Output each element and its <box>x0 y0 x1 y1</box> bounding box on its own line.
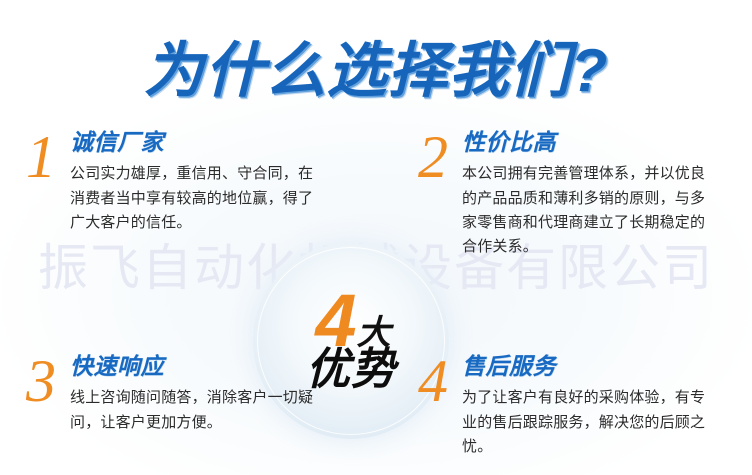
feature-text-4: 为了让客户有良好的采购体验，有专 业的售后跟踪服务，解决您的后顾之 忧。 <box>462 386 738 459</box>
feature-text-line: 忧。 <box>462 435 738 459</box>
feature-text-3: 线上咨询随问随答，消除客户一切疑 问，让客户更加方便。 <box>70 386 346 435</box>
feature-text-line: 家零售商和代理商建立了长期稳定的 <box>462 211 738 235</box>
feature-number-1: 1 <box>26 130 70 185</box>
feature-block-2: 2 性价比高 本公司拥有完善管理体系，并以优良 的产品品质和薄利多销的原则，与多… <box>418 128 738 259</box>
feature-text-line: 公司实力雄厚，重信用、守合同，在 <box>70 162 346 186</box>
feature-text-2: 本公司拥有完善管理体系，并以优良 的产品品质和薄利多销的原则，与多 家零售商和代… <box>462 162 738 259</box>
feature-text-1: 公司实力雄厚，重信用、守合同，在 消费者当中享有较高的地位赢，得了 广大客户的信… <box>70 162 346 235</box>
feature-text-line: 的产品品质和薄利多销的原则，与多 <box>462 187 738 211</box>
feature-body-3: 快速响应 线上咨询随问随答，消除客户一切疑 问，让客户更加方便。 <box>70 352 346 435</box>
feature-text-line: 线上咨询随问随答，消除客户一切疑 <box>70 386 346 410</box>
feature-number-2: 2 <box>418 130 462 185</box>
feature-text-line: 本公司拥有完善管理体系，并以优良 <box>462 162 738 186</box>
feature-body-1: 诚信厂家 公司实力雄厚，重信用、守合同，在 消费者当中享有较高的地位赢，得了 广… <box>70 128 346 235</box>
feature-text-line: 为了让客户有良好的采购体验，有专 <box>462 386 738 410</box>
feature-text-line: 问，让客户更加方便。 <box>70 411 346 435</box>
feature-block-4: 4 售后服务 为了让客户有良好的采购体验，有专 业的售后跟踪服务，解决您的后顾之… <box>418 352 738 459</box>
feature-number-3: 3 <box>26 354 70 409</box>
feature-number-4: 4 <box>418 354 462 409</box>
feature-heading-2: 性价比高 <box>462 130 738 155</box>
feature-heading-1: 诚信厂家 <box>70 130 346 155</box>
feature-block-3: 3 快速响应 线上咨询随问随答，消除客户一切疑 问，让客户更加方便。 <box>26 352 346 435</box>
feature-body-4: 售后服务 为了让客户有良好的采购体验，有专 业的售后跟踪服务，解决您的后顾之 忧… <box>462 352 738 459</box>
feature-block-1: 1 诚信厂家 公司实力雄厚，重信用、守合同，在 消费者当中享有较高的地位赢，得了… <box>26 128 346 235</box>
feature-text-line: 广大客户的信任。 <box>70 211 346 235</box>
feature-text-line: 业的售后跟踪服务，解决您的后顾之 <box>462 411 738 435</box>
badge-number: 4 <box>315 291 354 352</box>
feature-text-line: 消费者当中享有较高的地位赢，得了 <box>70 187 346 211</box>
badge-top-row: 4 大 <box>315 290 390 352</box>
feature-text-line: 合作关系。 <box>462 235 738 259</box>
feature-body-2: 性价比高 本公司拥有完善管理体系，并以优良 的产品品质和薄利多销的原则，与多 家… <box>462 128 738 259</box>
page-title-text: 为什么选择我们? <box>144 22 609 109</box>
page-title: 为什么选择我们? <box>0 22 752 109</box>
promo-poster: 振飞自动化机械设备有限公司 4 大 优势 为什么选择我们? 1 诚信厂家 公司实… <box>0 0 752 475</box>
feature-heading-4: 售后服务 <box>462 354 738 379</box>
feature-heading-3: 快速响应 <box>70 354 346 379</box>
